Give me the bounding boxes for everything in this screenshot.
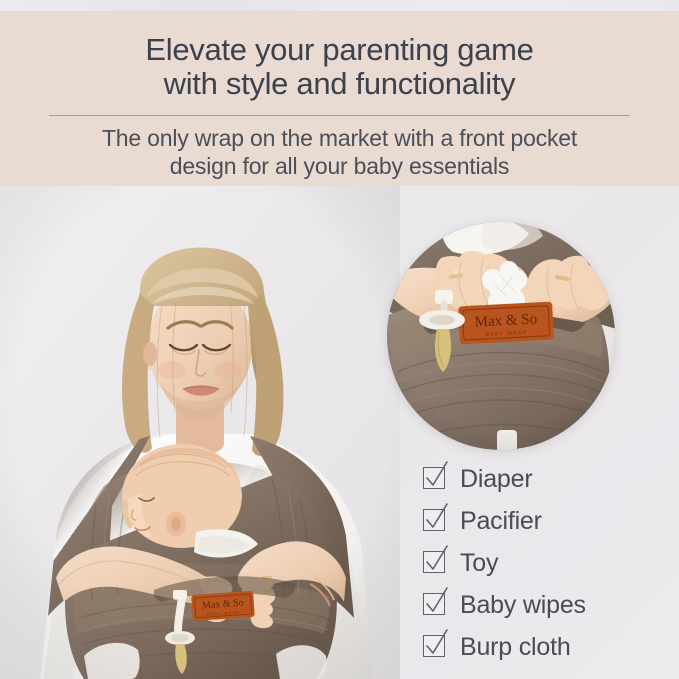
list-item-label: Baby wipes <box>460 592 586 618</box>
top-strip <box>0 0 679 11</box>
main-product-photo: Max & So BABY WRAP <box>0 186 400 679</box>
list-item[interactable]: Diaper <box>423 458 673 500</box>
checkbox-checked-icon[interactable] <box>423 635 447 659</box>
list-item[interactable]: Toy <box>423 542 673 584</box>
essentials-checklist: Diaper Pacifier Toy <box>423 458 673 668</box>
pocket-detail-inset: Max & So BABY WRAP <box>387 222 615 450</box>
checkbox-checked-icon[interactable] <box>423 593 447 617</box>
header-divider <box>49 115 630 116</box>
list-item[interactable]: Burp cloth <box>423 626 673 668</box>
body-area: Max & So BABY WRAP <box>0 186 679 679</box>
checkbox-checked-icon[interactable] <box>423 467 447 491</box>
list-item[interactable]: Baby wipes <box>423 584 673 626</box>
list-item-label: Pacifier <box>460 508 542 534</box>
headline: Elevate your parenting game with style a… <box>0 33 679 101</box>
header-band: Elevate your parenting game with style a… <box>0 11 679 186</box>
subheadline: The only wrap on the market with a front… <box>0 124 679 180</box>
list-item[interactable]: Pacifier <box>423 500 673 542</box>
checkbox-checked-icon[interactable] <box>423 551 447 575</box>
checkbox-checked-icon[interactable] <box>423 509 447 533</box>
list-item-label: Diaper <box>460 466 532 492</box>
ad-banner: Elevate your parenting game with style a… <box>0 0 679 679</box>
list-item-label: Burp cloth <box>460 634 571 660</box>
list-item-label: Toy <box>460 550 498 576</box>
